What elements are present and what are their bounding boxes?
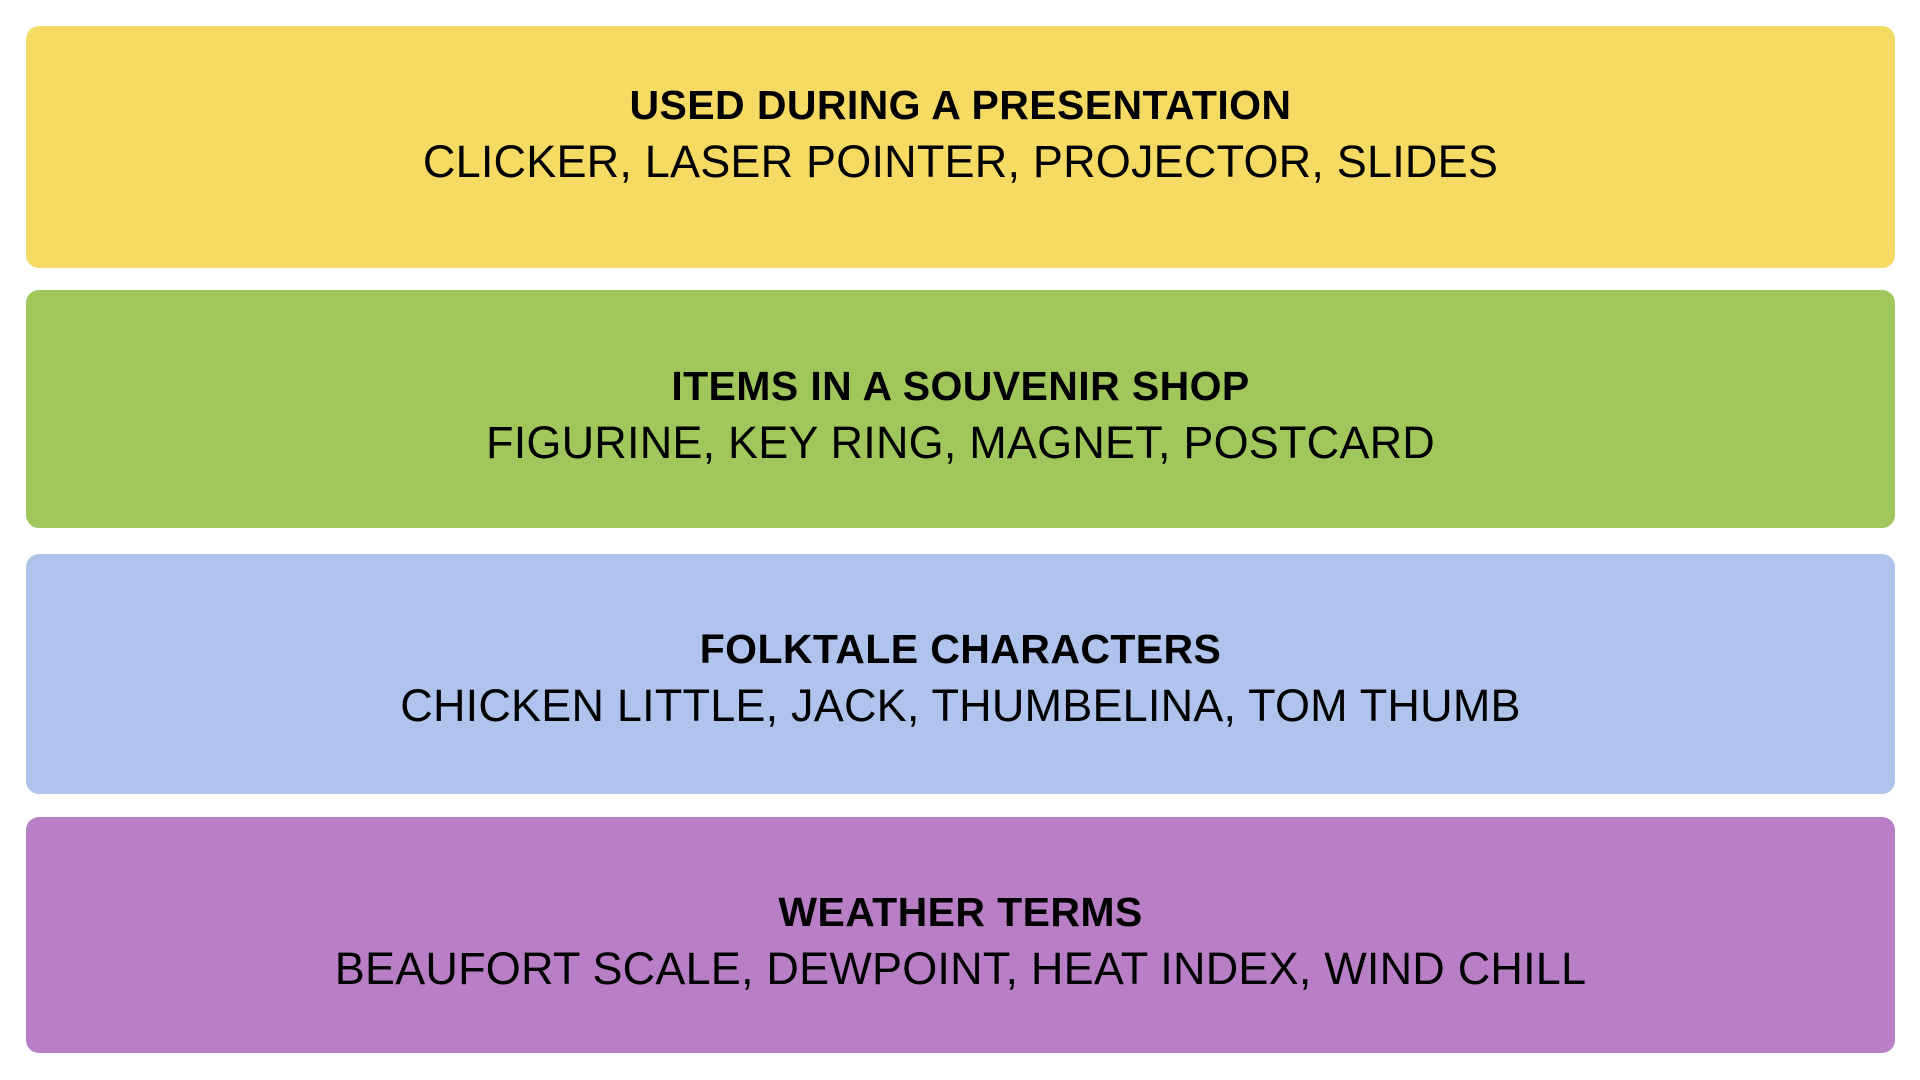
category-band-purple[interactable]: WEATHER TERMS BEAUFORT SCALE, DEWPOINT, … bbox=[26, 817, 1895, 1053]
puzzle-solution-board: USED DURING A PRESENTATION CLICKER, LASE… bbox=[0, 0, 1920, 1080]
category-text-block: USED DURING A PRESENTATION CLICKER, LASE… bbox=[423, 85, 1498, 185]
category-text-block: ITEMS IN A SOUVENIR SHOP FIGURINE, KEY R… bbox=[486, 366, 1435, 466]
category-members: CHICKEN LITTLE, JACK, THUMBELINA, TOM TH… bbox=[400, 683, 1520, 729]
category-band-yellow[interactable]: USED DURING A PRESENTATION CLICKER, LASE… bbox=[26, 26, 1895, 268]
category-title: ITEMS IN A SOUVENIR SHOP bbox=[671, 366, 1249, 408]
category-band-blue[interactable]: FOLKTALE CHARACTERS CHICKEN LITTLE, JACK… bbox=[26, 554, 1895, 794]
category-members: BEAUFORT SCALE, DEWPOINT, HEAT INDEX, WI… bbox=[335, 946, 1587, 992]
category-text-block: FOLKTALE CHARACTERS CHICKEN LITTLE, JACK… bbox=[400, 629, 1520, 729]
category-members: CLICKER, LASER POINTER, PROJECTOR, SLIDE… bbox=[423, 139, 1498, 185]
category-title: USED DURING A PRESENTATION bbox=[630, 85, 1292, 127]
category-band-green[interactable]: ITEMS IN A SOUVENIR SHOP FIGURINE, KEY R… bbox=[26, 290, 1895, 528]
category-text-block: WEATHER TERMS BEAUFORT SCALE, DEWPOINT, … bbox=[335, 892, 1587, 992]
category-members: FIGURINE, KEY RING, MAGNET, POSTCARD bbox=[486, 420, 1435, 466]
category-title: WEATHER TERMS bbox=[778, 892, 1142, 934]
category-title: FOLKTALE CHARACTERS bbox=[700, 629, 1222, 671]
